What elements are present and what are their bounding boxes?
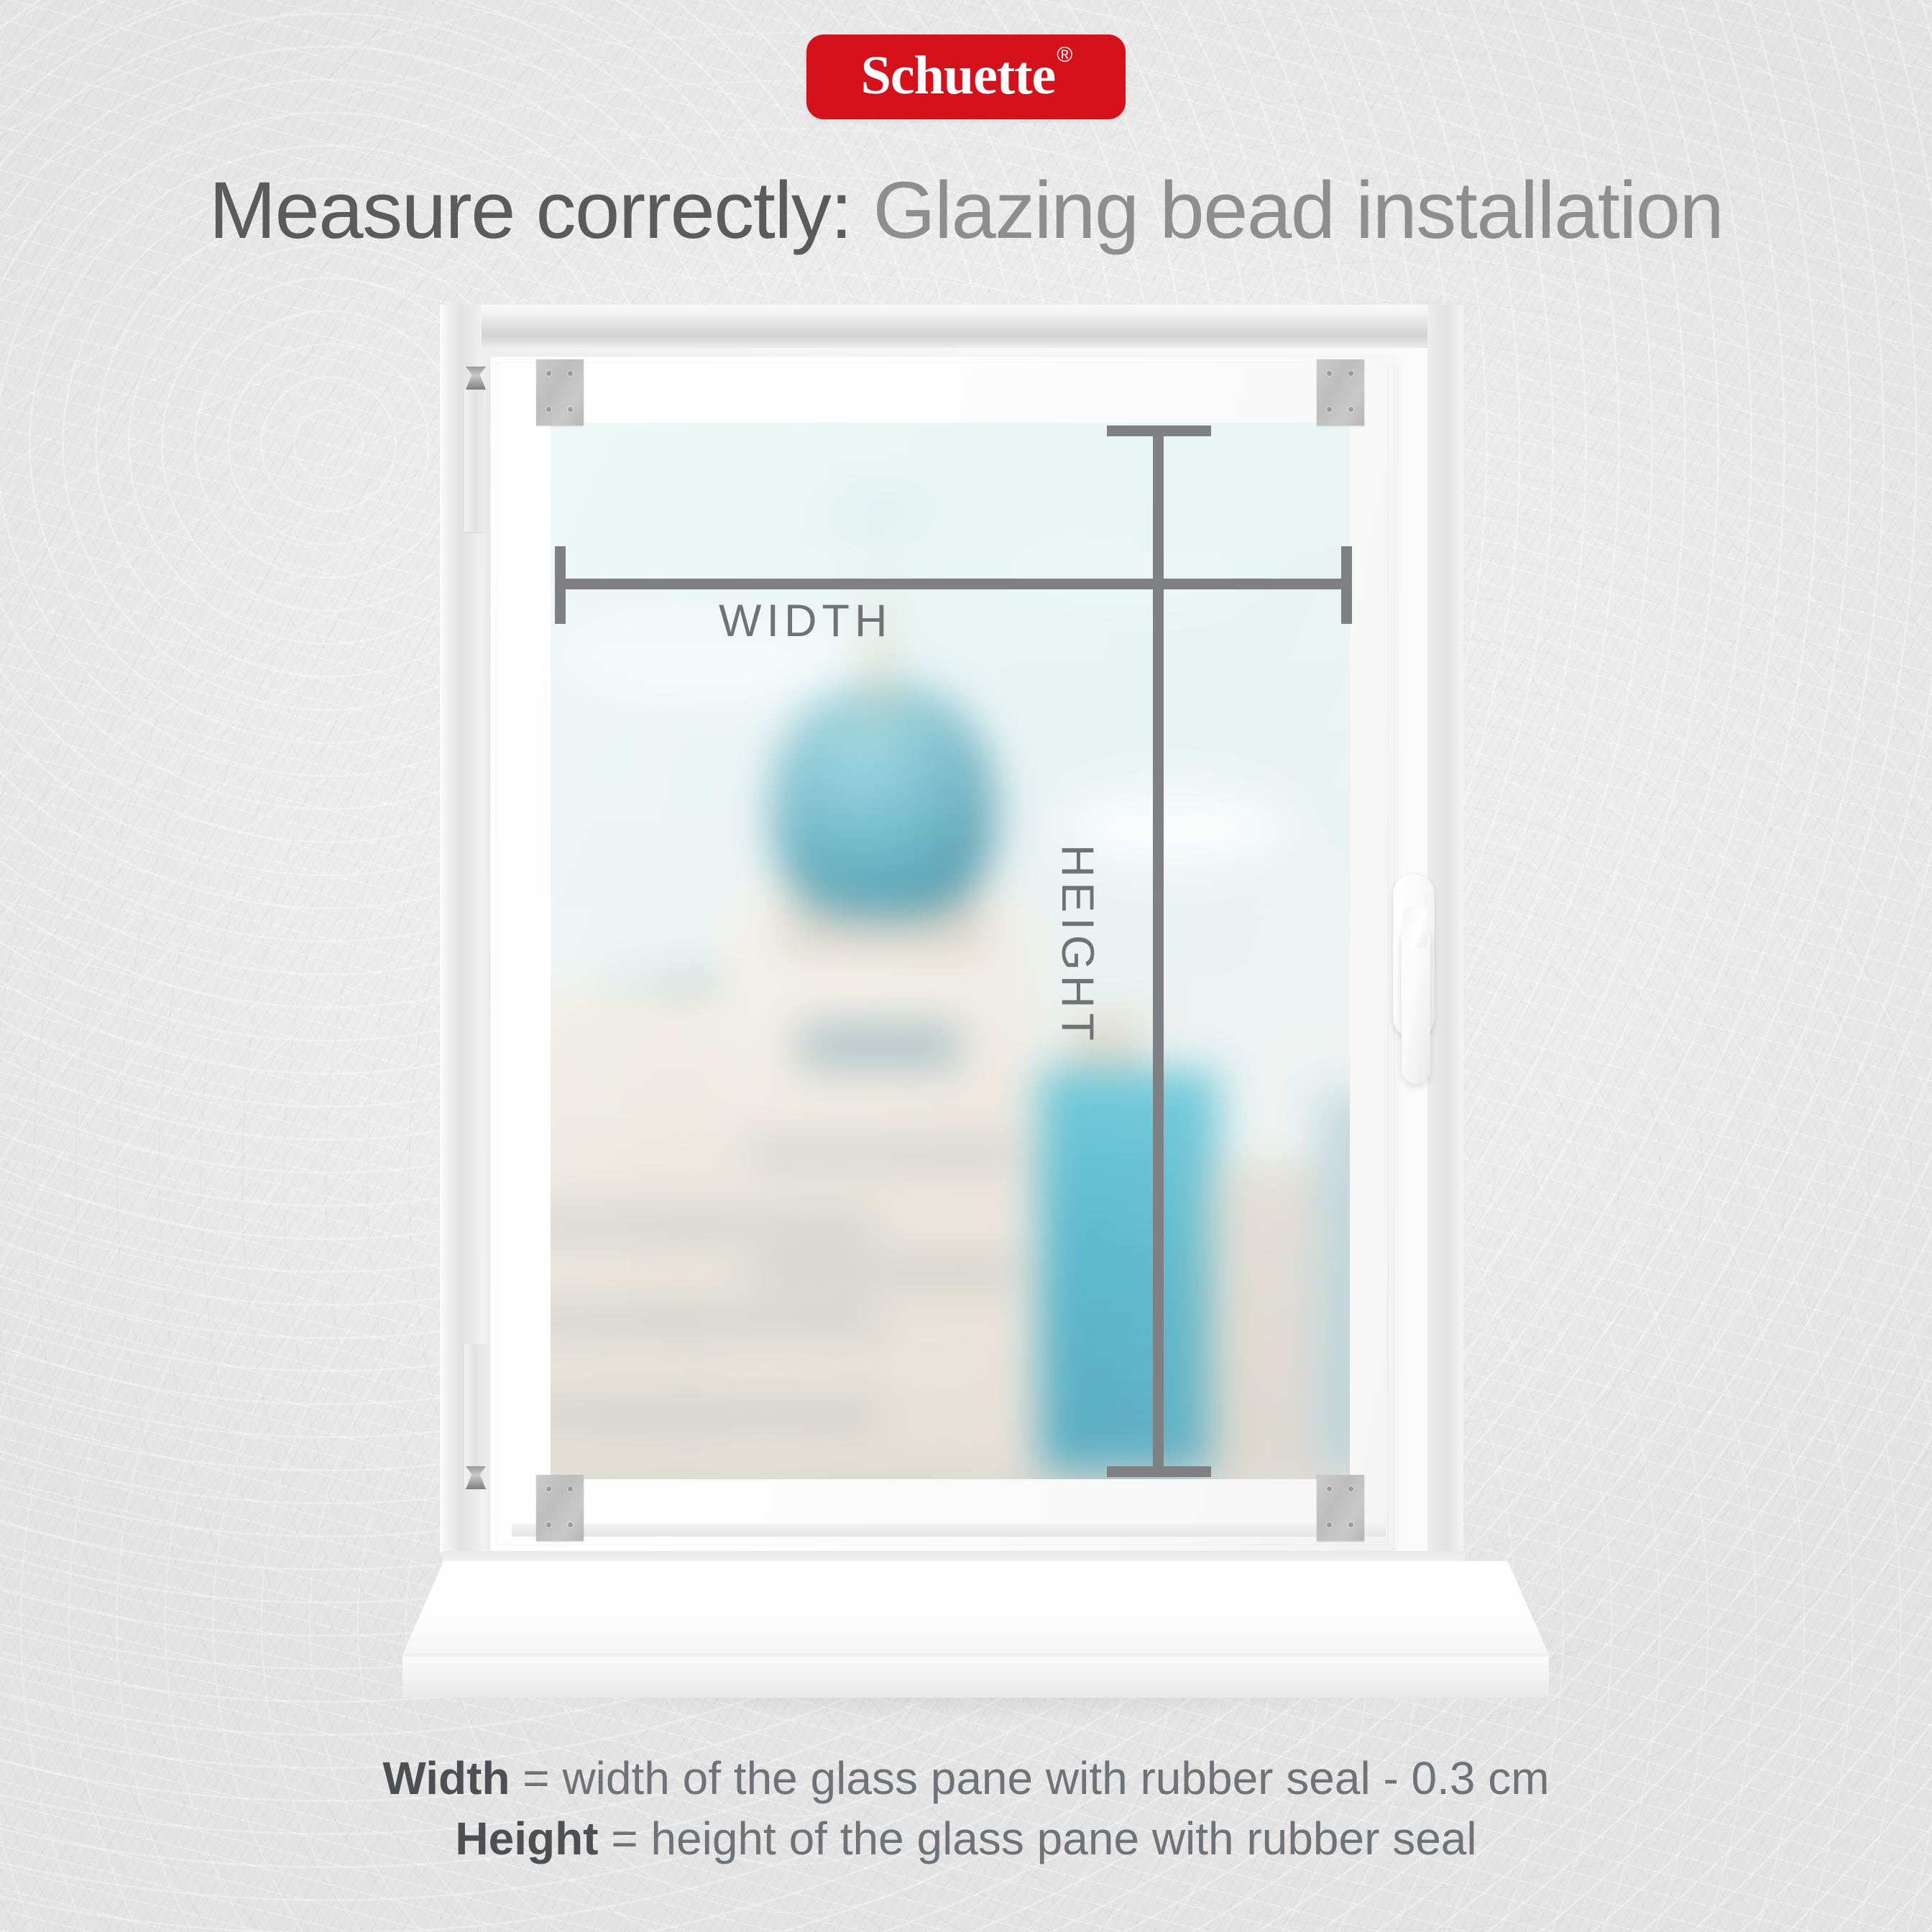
screw-hole (546, 371, 551, 376)
mounting-bracket-top-left (536, 359, 584, 425)
legend-value-width: = width of the glass pane with rubber se… (510, 1752, 1550, 1804)
legend-key-width: Width (382, 1752, 510, 1804)
width-label: WIDTH (719, 595, 892, 647)
screw-hole (568, 1486, 573, 1491)
screw-hole (568, 371, 573, 376)
wall-reveal-top-soffit (440, 305, 1463, 348)
window-sill-edge-line (402, 1653, 1549, 1657)
screw-hole (568, 407, 573, 412)
screw-hole (1348, 1486, 1353, 1491)
width-dimension-line (555, 579, 1351, 589)
window-handle-lever[interactable] (1402, 926, 1430, 1084)
mounting-bracket-top-right (1317, 359, 1364, 425)
legend-value-height: = height of the glass pane with rubber s… (598, 1813, 1476, 1864)
screw-hole (1327, 1486, 1332, 1491)
screw-hole (1327, 1522, 1332, 1527)
height-label: HEIGHT (1052, 845, 1103, 1046)
mounting-bracket-bottom-left (536, 1475, 584, 1541)
window-sill-front-edge (402, 1653, 1549, 1698)
screw-hole (1348, 371, 1353, 376)
screw-hole (568, 1522, 573, 1527)
height-dimension-line (1153, 425, 1164, 1476)
window-diagram: WIDTH HEIGHT (0, 0, 1932, 1932)
measurement-legend: Width = width of the glass pane with rub… (0, 1748, 1932, 1869)
screw-hole (1327, 371, 1332, 376)
screw-hole (1348, 407, 1353, 412)
screw-hole (546, 1522, 551, 1527)
mounting-bracket-bottom-right (1317, 1475, 1364, 1541)
window-sill-top (402, 1561, 1549, 1655)
legend-line-width: Width = width of the glass pane with rub… (0, 1748, 1932, 1808)
screw-hole (1348, 1522, 1353, 1527)
screw-hole (546, 407, 551, 412)
legend-key-height: Height (455, 1813, 598, 1864)
screw-hole (546, 1486, 551, 1491)
window-sash-bottom-lip (512, 1524, 1386, 1537)
window-handle-neck (1403, 907, 1427, 949)
hinge-top (464, 388, 487, 532)
screw-hole (1327, 407, 1332, 412)
legend-line-height: Height = height of the glass pane with r… (0, 1808, 1932, 1869)
